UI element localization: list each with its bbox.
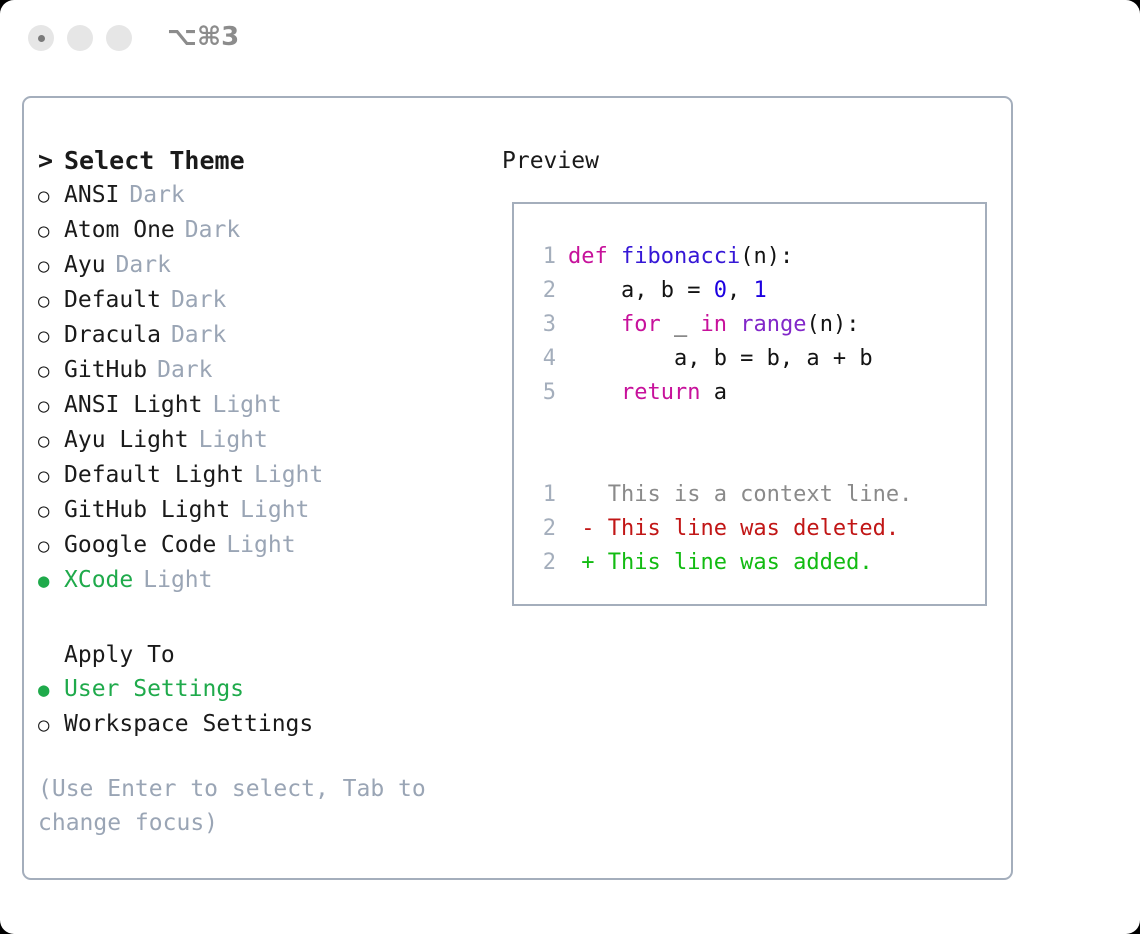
code-token — [568, 376, 621, 410]
theme-option-ayu[interactable]: ○ Ayu Dark — [38, 248, 488, 283]
apply-to-option-label: User Settings — [64, 672, 244, 706]
line-number: 1 — [528, 478, 556, 512]
code-blank-line — [528, 410, 985, 444]
code-token: def — [568, 240, 621, 274]
radio-selected-icon[interactable]: ● — [38, 564, 64, 598]
code-token: 0 — [714, 274, 727, 308]
radio-selected-icon[interactable]: ● — [38, 673, 64, 707]
line-number: 3 — [528, 308, 556, 342]
theme-option-dracula[interactable]: ○ Dracula Dark — [38, 318, 488, 353]
theme-variant-label: Light — [199, 423, 268, 457]
diff-text: This is a context line. — [568, 478, 912, 512]
theme-option-label: Google Code — [64, 528, 216, 562]
preview-box: 1 def fibonacci (n): 2 a, b = 0 , 1 3 fo — [512, 202, 987, 606]
main-panel: > Select Theme ○ ANSI Dark ○ Atom One Da… — [22, 96, 1013, 880]
title-bar: ⌥⌘3 — [0, 0, 1140, 78]
theme-variant-label: Dark — [171, 283, 226, 317]
theme-option-github-light[interactable]: ○ GitHub Light Light — [38, 493, 488, 528]
code-token — [727, 308, 740, 342]
keyboard-shortcut-label: ⌥⌘3 — [167, 22, 239, 52]
apply-to-heading: Apply To — [38, 638, 488, 672]
code-line: 2 a, b = 0 , 1 — [528, 274, 985, 308]
theme-option-ansi[interactable]: ○ ANSI Dark — [38, 178, 488, 213]
theme-option-label: Default — [64, 283, 161, 317]
theme-option-ansi-light[interactable]: ○ ANSI Light Light — [38, 388, 488, 423]
theme-option-google-code[interactable]: ○ Google Code Light — [38, 528, 488, 563]
radio-unselected-icon[interactable]: ○ — [38, 249, 64, 283]
preview-title: Preview — [502, 144, 599, 178]
window-dot-3[interactable] — [106, 25, 132, 51]
list-gap — [38, 598, 488, 638]
code-line: 5 return a — [528, 376, 985, 410]
apply-to-option-workspace-settings[interactable]: ○ Workspace Settings — [38, 707, 488, 742]
radio-unselected-icon[interactable]: ○ — [38, 214, 64, 248]
code-token: (n): — [740, 240, 793, 274]
radio-unselected-icon[interactable]: ○ — [38, 459, 64, 493]
theme-option-label: XCode — [64, 563, 133, 597]
code-token: return — [621, 376, 700, 410]
theme-option-label: GitHub — [64, 353, 147, 387]
radio-unselected-icon[interactable]: ○ — [38, 494, 64, 528]
diff-text: - This line was deleted. — [568, 512, 899, 546]
theme-option-label: Dracula — [64, 318, 161, 352]
theme-variant-label: Dark — [129, 178, 184, 212]
code-blank-line — [528, 444, 985, 478]
theme-variant-label: Light — [212, 388, 281, 422]
apply-to-title: Apply To — [64, 638, 175, 672]
line-number: 1 — [528, 240, 556, 274]
window-dot-active-inner — [38, 35, 45, 42]
theme-option-atom-one[interactable]: ○ Atom One Dark — [38, 213, 488, 248]
code-token: _ — [661, 308, 701, 342]
theme-option-label: Ayu — [64, 248, 106, 282]
radio-unselected-icon[interactable]: ○ — [38, 424, 64, 458]
theme-variant-label: Light — [143, 563, 212, 597]
theme-option-xcode[interactable]: ● XCode Light — [38, 563, 488, 598]
code-token: a, b = b, a + b — [568, 342, 873, 376]
line-number: 2 — [528, 512, 556, 546]
diff-line-added: 2 + This line was added. — [528, 546, 985, 580]
radio-unselected-icon[interactable]: ○ — [38, 389, 64, 423]
theme-variant-label: Dark — [185, 213, 240, 247]
theme-variant-label: Dark — [116, 248, 171, 282]
code-token — [568, 308, 621, 342]
line-number: 5 — [528, 376, 556, 410]
theme-option-label: ANSI — [64, 178, 119, 212]
radio-unselected-icon[interactable]: ○ — [38, 529, 64, 563]
theme-picker-title: Select Theme — [64, 144, 245, 178]
code-token: fibonacci — [621, 240, 740, 274]
code-line: 1 def fibonacci (n): — [528, 240, 985, 274]
code-token: , — [727, 274, 754, 308]
code-token: a, b = — [568, 274, 714, 308]
code-token: for — [621, 308, 661, 342]
theme-option-default-light[interactable]: ○ Default Light Light — [38, 458, 488, 493]
theme-option-label: Ayu Light — [64, 423, 189, 457]
theme-variant-label: Dark — [171, 318, 226, 352]
radio-unselected-icon[interactable]: ○ — [38, 319, 64, 353]
theme-option-ayu-light[interactable]: ○ Ayu Light Light — [38, 423, 488, 458]
code-line: 3 for _ in range (n): — [528, 308, 985, 342]
code-token: in — [700, 308, 727, 342]
code-token: 1 — [753, 274, 766, 308]
theme-option-github[interactable]: ○ GitHub Dark — [38, 353, 488, 388]
window-controls — [28, 25, 132, 51]
diff-text: + This line was added. — [568, 546, 873, 580]
theme-picker-heading: > Select Theme — [38, 144, 488, 178]
radio-unselected-icon[interactable]: ○ — [38, 179, 64, 213]
code-line: 4 a, b = b, a + b — [528, 342, 985, 376]
diff-line-context: 1 This is a context line. — [528, 478, 985, 512]
code-token: (n): — [806, 308, 859, 342]
theme-option-label: ANSI Light — [64, 388, 202, 422]
apply-to-option-label: Workspace Settings — [64, 707, 313, 741]
preview-column: Preview 1 def fibonacci (n): 2 a, b = 0 … — [502, 144, 599, 178]
apply-to-option-user-settings[interactable]: ● User Settings — [38, 672, 488, 707]
theme-option-default[interactable]: ○ Default Dark — [38, 283, 488, 318]
window-dot-2[interactable] — [67, 25, 93, 51]
theme-variant-label: Light — [240, 493, 309, 527]
keyboard-hint-text: (Use Enter to select, Tab to change focu… — [38, 772, 458, 840]
code-token: a — [700, 376, 727, 410]
caret-icon: > — [38, 144, 64, 178]
line-number: 2 — [528, 274, 556, 308]
theme-variant-label: Light — [254, 458, 323, 492]
theme-picker-column: > Select Theme ○ ANSI Dark ○ Atom One Da… — [38, 144, 488, 840]
theme-option-label: GitHub Light — [64, 493, 230, 527]
theme-option-label: Atom One — [64, 213, 175, 247]
diff-line-deleted: 2 - This line was deleted. — [528, 512, 985, 546]
radio-unselected-icon[interactable]: ○ — [38, 354, 64, 388]
window-dot-active[interactable] — [28, 25, 54, 51]
line-number: 2 — [528, 546, 556, 580]
theme-option-label: Default Light — [64, 458, 244, 492]
theme-variant-label: Dark — [157, 353, 212, 387]
code-token: range — [740, 308, 806, 342]
app-window: ⌥⌘3 > Select Theme ○ ANSI Dark ○ Atom On… — [0, 0, 1140, 934]
radio-unselected-icon[interactable]: ○ — [38, 708, 64, 742]
theme-variant-label: Light — [226, 528, 295, 562]
line-number: 4 — [528, 342, 556, 376]
radio-unselected-icon[interactable]: ○ — [38, 284, 64, 318]
